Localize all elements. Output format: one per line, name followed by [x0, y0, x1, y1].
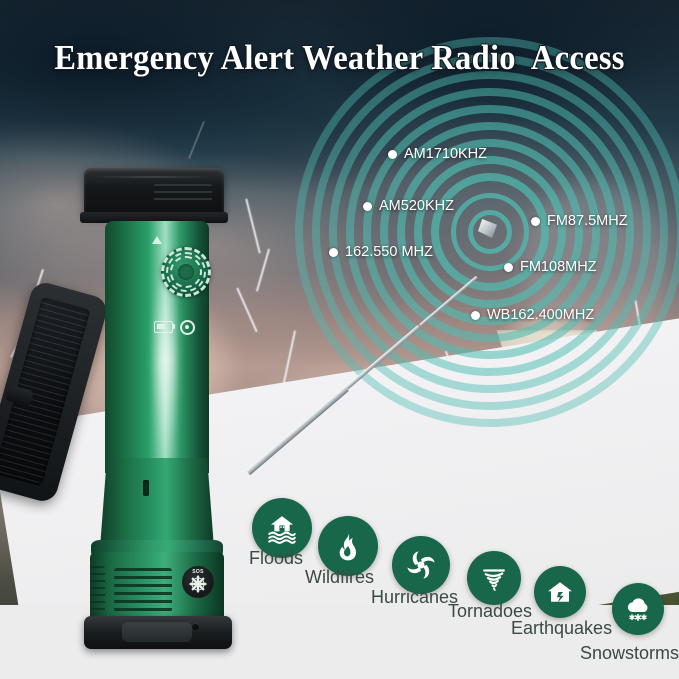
frequency-bullet-icon [363, 202, 372, 211]
triangle-marker-icon [152, 236, 162, 244]
hazard-label: Snowstorms [580, 643, 679, 664]
frequency-label: FM108MHZ [504, 259, 597, 275]
dial-ring [170, 256, 202, 288]
sos-button-label: SOS [183, 569, 213, 575]
speaker-grille [114, 568, 172, 612]
frequency-label: AM1710KHZ [388, 146, 487, 162]
hurricane-spiral-icon [392, 536, 450, 594]
base-side-ribs [91, 566, 105, 614]
cracked-house-icon [534, 566, 586, 618]
hazard-label: Earthquakes [511, 618, 612, 639]
frequency-text: AM520KHZ [379, 198, 454, 214]
frequency-label: 162.550 MHZ [329, 244, 433, 260]
hazard-label: Floods [249, 548, 303, 569]
radio-foot [84, 616, 232, 649]
radio-neck [100, 458, 214, 548]
battery-icon [154, 321, 173, 333]
neck-notch [143, 480, 149, 496]
emergency-radio-product: SOS [60, 168, 275, 648]
frequency-label: FM87.5MHZ [531, 213, 628, 229]
frequency-bullet-icon [531, 217, 540, 226]
hazard-label: Hurricanes [371, 587, 458, 608]
frequency-bullet-icon [471, 311, 480, 320]
page-title: Emergency Alert Weather Radio Access [24, 38, 655, 78]
tornado-funnel-icon [467, 551, 521, 605]
cap-ribs [154, 184, 212, 204]
foot-port-dot [192, 623, 199, 630]
frequency-label: WB162.400MHZ [471, 307, 594, 323]
frequency-bullet-icon [504, 263, 513, 272]
sos-light-button[interactable]: SOS [182, 566, 214, 598]
frequency-text: 162.550 MHZ [345, 244, 433, 260]
snow-cloud-icon [612, 583, 664, 635]
battery-icon-cap [172, 324, 175, 329]
frequency-label: AM520KHZ [363, 198, 454, 214]
frequency-text: AM1710KHZ [404, 146, 487, 162]
flashlight-head-cap [84, 168, 224, 216]
frequency-text: WB162.400MHZ [487, 307, 594, 323]
frequency-text: FM87.5MHZ [547, 213, 628, 229]
product-marketing-image: AM1710KHZAM520KHZFM87.5MHZ162.550 MHZFM1… [0, 0, 679, 679]
speaker-dial[interactable] [161, 247, 211, 297]
frequency-bullet-icon [329, 248, 338, 257]
gear-icon [180, 320, 195, 335]
frequency-bullet-icon [388, 150, 397, 159]
hazard-label: Wildfires [305, 567, 374, 588]
frequency-text: FM108MHZ [520, 259, 597, 275]
